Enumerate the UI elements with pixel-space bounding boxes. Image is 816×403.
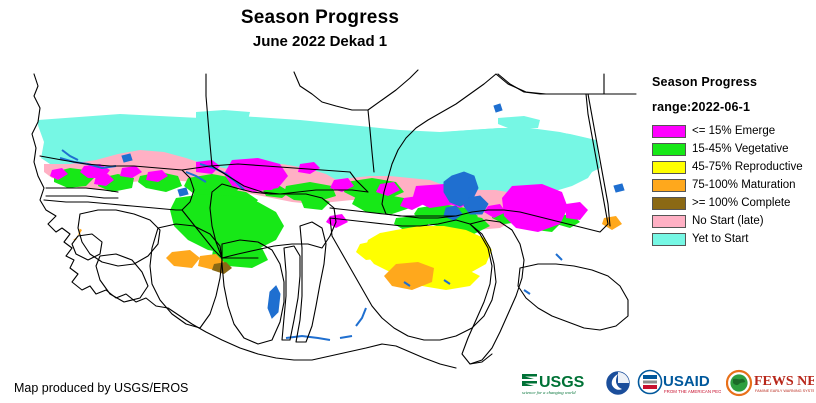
svg-text:science for a changing world: science for a changing world bbox=[522, 390, 576, 395]
legend-item-vegetative[interactable]: 15-45% Vegetative bbox=[652, 141, 816, 158]
legend-swatch-complete bbox=[652, 197, 686, 210]
legend-swatch-emerge bbox=[652, 125, 686, 138]
svg-text:USGS: USGS bbox=[539, 374, 585, 391]
legend-item-list: <= 15% Emerge 15-45% Vegetative 45-75% R… bbox=[652, 123, 816, 248]
legend-label-no-start: No Start (late) bbox=[692, 215, 764, 228]
legend-title: Season Progress bbox=[652, 74, 816, 90]
legend-label-reproductive: 45-75% Reproductive bbox=[692, 161, 803, 174]
svg-text:USAID: USAID bbox=[663, 373, 710, 390]
fewsnet-logo[interactable]: FEWS NET FAMINE EARLY WARNING SYSTEMS NE… bbox=[726, 368, 814, 398]
legend-range-label: range:2022-06-1 bbox=[652, 99, 816, 115]
legend-swatch-maturation bbox=[652, 179, 686, 192]
legend-panel: Season Progress range:2022-06-1 <= 15% E… bbox=[652, 74, 816, 249]
logo-bar: USGS science for a changing world USAID … bbox=[556, 366, 814, 400]
page-title: Season Progress bbox=[0, 6, 640, 30]
svg-text:FROM THE AMERICAN PEOPLE: FROM THE AMERICAN PEOPLE bbox=[664, 389, 721, 394]
legend-label-vegetative: 15-45% Vegetative bbox=[692, 143, 789, 156]
legend-item-maturation[interactable]: 75-100% Maturation bbox=[652, 177, 816, 194]
legend-swatch-no-start bbox=[652, 215, 686, 228]
map-credit: Map produced by USGS/EROS bbox=[14, 380, 188, 396]
legend-label-complete: >= 100% Complete bbox=[692, 197, 790, 210]
usgs-logo[interactable]: USGS science for a changing world bbox=[521, 368, 599, 398]
noaa-logo[interactable] bbox=[604, 368, 632, 398]
legend-item-yet-to-start[interactable]: Yet to Start bbox=[652, 231, 816, 248]
legend-item-no-start[interactable]: No Start (late) bbox=[652, 213, 816, 230]
svg-text:FAMINE EARLY WARNING SYSTEMS N: FAMINE EARLY WARNING SYSTEMS NETWORK bbox=[755, 389, 814, 393]
svg-text:FEWS NET: FEWS NET bbox=[754, 374, 814, 389]
legend-swatch-reproductive bbox=[652, 161, 686, 174]
page-subtitle: June 2022 Dekad 1 bbox=[0, 31, 640, 53]
legend-label-emerge: <= 15% Emerge bbox=[692, 125, 775, 138]
legend-label-maturation: 75-100% Maturation bbox=[692, 179, 796, 192]
legend-item-emerge[interactable]: <= 15% Emerge bbox=[652, 123, 816, 140]
map-canvas[interactable] bbox=[0, 68, 640, 370]
usaid-logo[interactable]: USAID FROM THE AMERICAN PEOPLE bbox=[637, 368, 721, 398]
map-graphic bbox=[0, 68, 640, 370]
legend-swatch-vegetative bbox=[652, 143, 686, 156]
legend-item-complete[interactable]: >= 100% Complete bbox=[652, 195, 816, 212]
legend-swatch-yet-to-start bbox=[652, 233, 686, 246]
title-block: Season Progress June 2022 Dekad 1 bbox=[0, 6, 640, 53]
legend-label-yet-to-start: Yet to Start bbox=[692, 233, 748, 246]
legend-item-reproductive[interactable]: 45-75% Reproductive bbox=[652, 159, 816, 176]
